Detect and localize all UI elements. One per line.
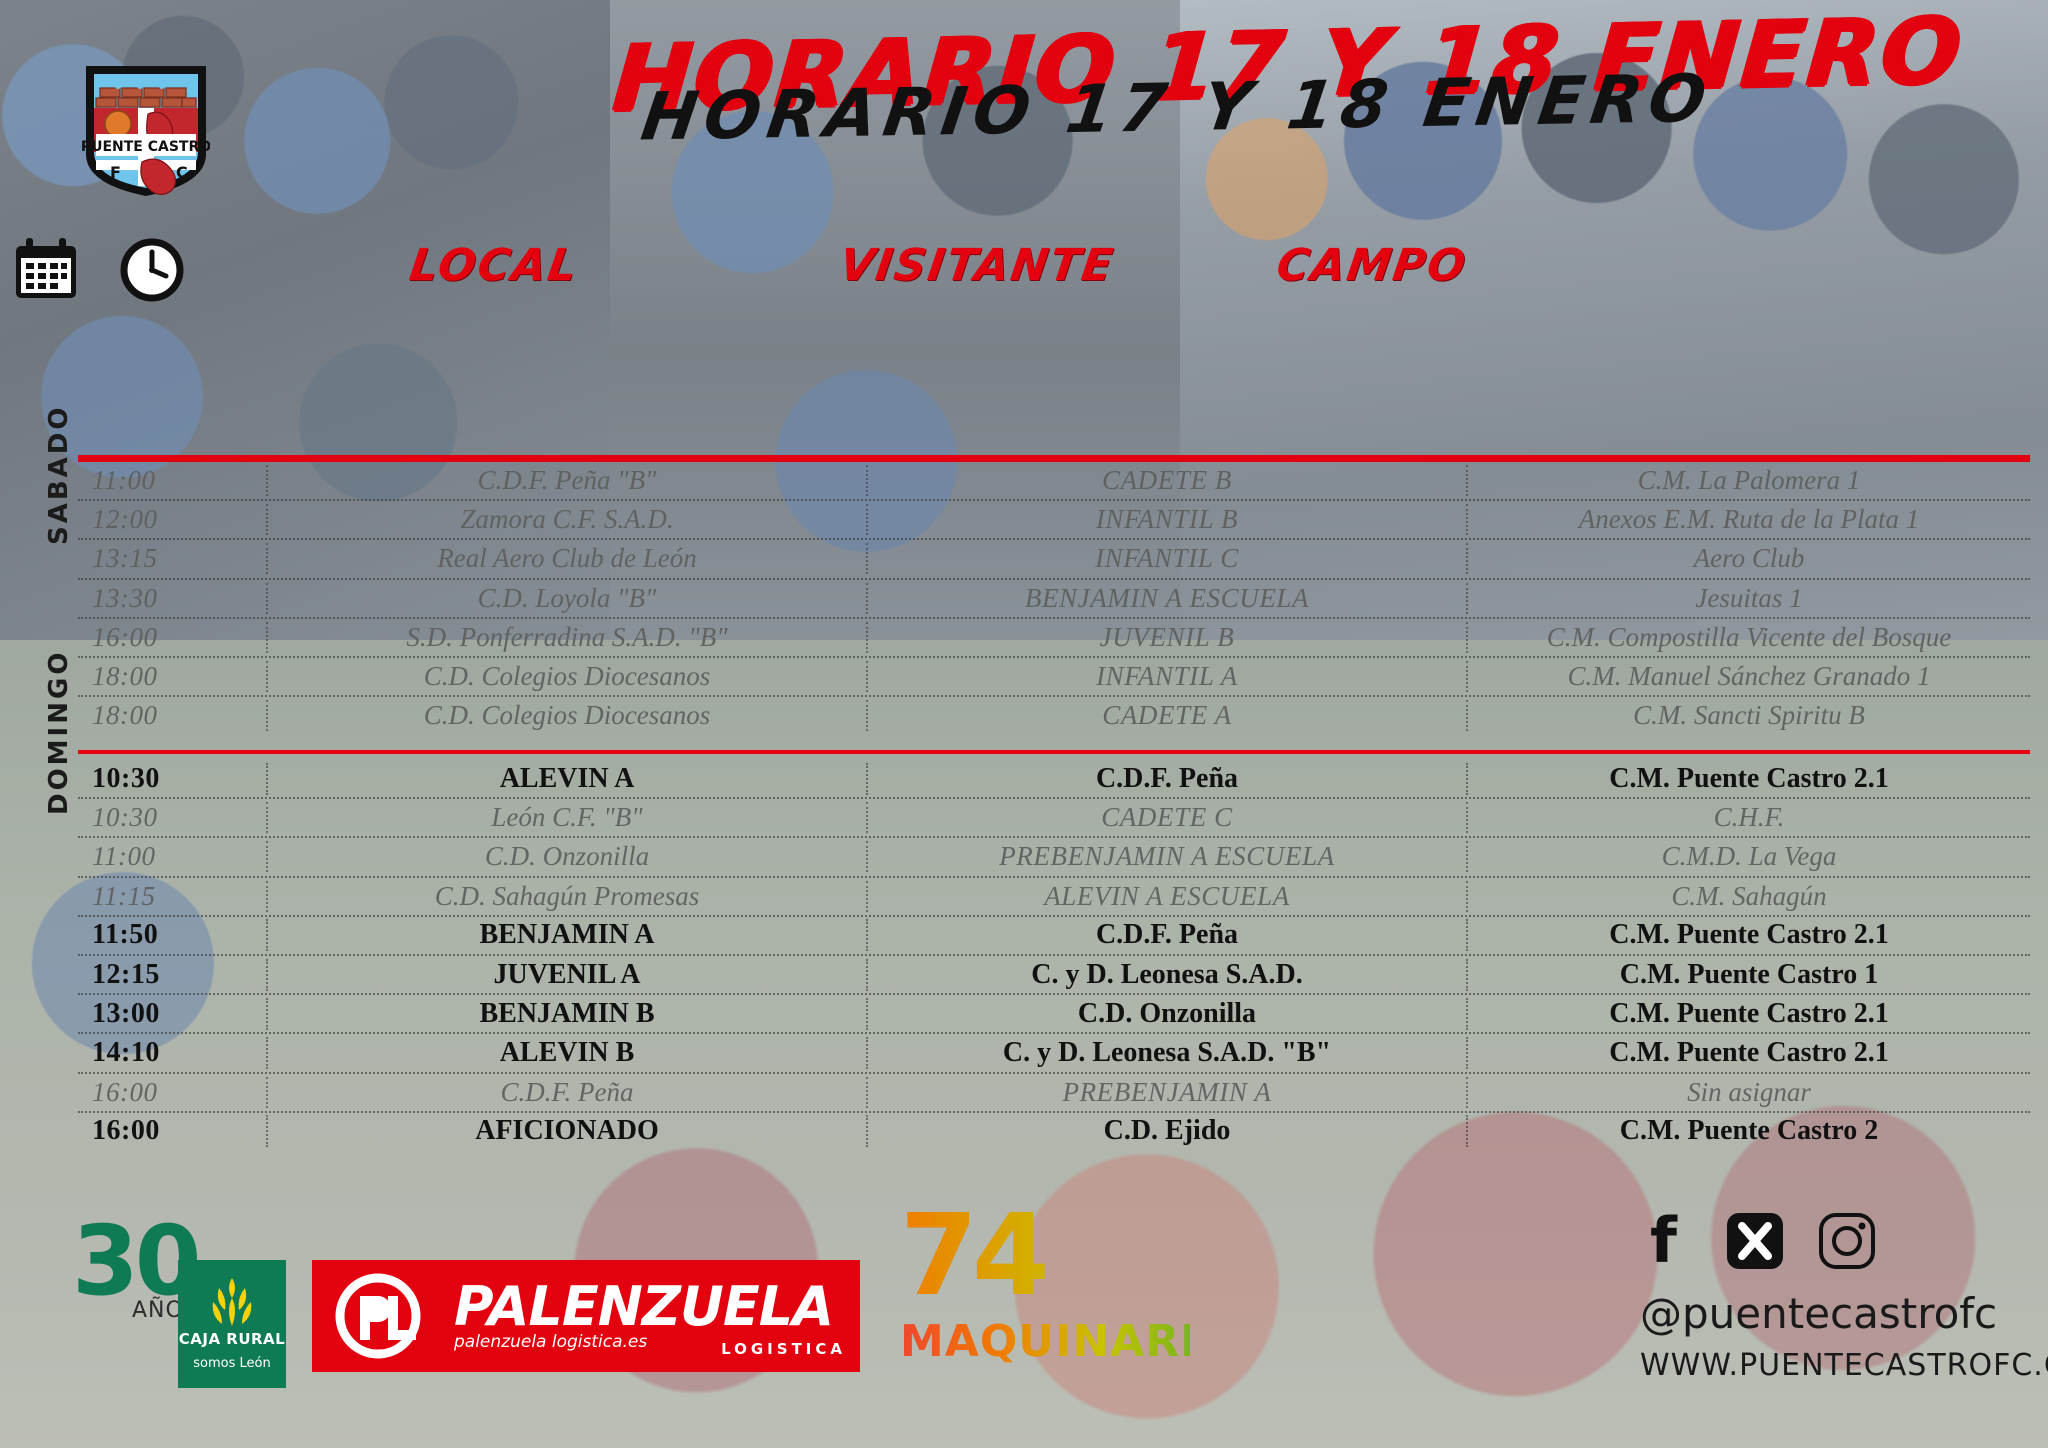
table-row: 13:00BENJAMIN BC.D. OnzonillaC.M. Puente… xyxy=(78,995,2030,1034)
match-time: 16:00 xyxy=(78,622,268,653)
match-local-team: C.D. Sahagún Promesas xyxy=(268,881,868,912)
table-row: 11:15C.D. Sahagún PromesasALEVIN A ESCUE… xyxy=(78,878,2030,917)
crest-club-name: PUENTE CASTRO xyxy=(82,139,210,155)
match-field: C.H.F. xyxy=(1468,802,2030,833)
table-top-rule xyxy=(78,455,2030,462)
match-field: C.M. Compostilla Vicente del Bosque xyxy=(1468,622,2030,653)
match-field: C.M. Puente Castro 1 xyxy=(1468,959,2030,991)
match-local-team: C.D. Colegios Diocesanos xyxy=(268,700,868,731)
match-time: 18:00 xyxy=(78,700,268,731)
match-local-team: BENJAMIN A xyxy=(268,919,868,951)
match-local-team: León C.F. "B" xyxy=(268,802,868,833)
clock-icon xyxy=(118,236,186,302)
palenzuela-name: PALENZUELA xyxy=(454,1280,833,1334)
palenzuela-tagline: LOGISTICA xyxy=(721,1340,846,1358)
match-visiting-team: PREBENJAMIN A ESCUELA xyxy=(868,841,1468,872)
match-field: C.M. Puente Castro 2.1 xyxy=(1468,763,2030,795)
x-twitter-icon[interactable] xyxy=(1726,1212,1784,1275)
match-field: Jesuitas 1 xyxy=(1468,583,2030,614)
column-header-campo: CAMPO xyxy=(1273,240,1470,291)
match-time: 10:30 xyxy=(78,763,268,795)
match-visiting-team: JUVENIL B xyxy=(868,622,1468,653)
match-visiting-team: BENJAMIN A ESCUELA xyxy=(868,583,1468,614)
match-time: 12:00 xyxy=(78,504,268,535)
social-block: f @puentecastrofc WWW.PUENTECASTROFC.COM xyxy=(1640,1212,2040,1383)
match-field: C.M. Puente Castro 2.1 xyxy=(1468,919,2030,951)
table-row: 18:00C.D. Colegios DiocesanosCADETE AC.M… xyxy=(78,697,2030,734)
facebook-icon[interactable]: f xyxy=(1640,1212,1692,1275)
match-field: C.M. Manuel Sánchez Granado 1 xyxy=(1468,661,2030,692)
match-field: C.M. La Palomera 1 xyxy=(1468,465,2030,496)
match-time: 10:30 xyxy=(78,802,268,833)
match-visiting-team: C.D.F. Peña xyxy=(868,763,1468,795)
match-local-team: C.D.F. Peña "B" xyxy=(268,465,868,496)
match-time: 14:10 xyxy=(78,1037,268,1069)
table-row: 13:15Real Aero Club de LeónINFANTIL CAer… xyxy=(78,540,2030,579)
table-row: 16:00S.D. Ponferradina S.A.D. "B"JUVENIL… xyxy=(78,619,2030,658)
crest-c-letter: C xyxy=(176,163,188,182)
day-label-sunday: DOMINGO xyxy=(44,650,74,815)
match-local-team: ALEVIN B xyxy=(268,1037,868,1069)
match-visiting-team: C. y D. Leonesa S.A.D. xyxy=(868,959,1468,991)
sunday-schedule-table: 10:30ALEVIN AC.D.F. PeñaC.M. Puente Cast… xyxy=(78,760,2030,1150)
match-local-team: C.D. Colegios Diocesanos xyxy=(268,661,868,692)
match-time: 16:00 xyxy=(78,1115,268,1147)
match-local-team: JUVENIL A xyxy=(268,959,868,991)
match-time: 18:00 xyxy=(78,661,268,692)
table-row: 12:15JUVENIL AC. y D. Leonesa S.A.D.C.M.… xyxy=(78,956,2030,995)
match-time: 11:50 xyxy=(78,919,268,951)
match-local-team: C.D. Loyola "B" xyxy=(268,583,868,614)
table-row: 14:10ALEVIN BC. y D. Leonesa S.A.D. "B"C… xyxy=(78,1034,2030,1073)
saturday-schedule-table: 11:00C.D.F. Peña "B"CADETE BC.M. La Palo… xyxy=(78,462,2030,734)
match-time: 16:00 xyxy=(78,1077,268,1108)
match-visiting-team: PREBENJAMIN A xyxy=(868,1077,1468,1108)
match-visiting-team: CADETE A xyxy=(868,700,1468,731)
match-field: C.M. Puente Castro 2.1 xyxy=(1468,1037,2030,1069)
table-row: 10:30León C.F. "B"CADETE CC.H.F. xyxy=(78,799,2030,838)
match-visiting-team: C.D.F. Peña xyxy=(868,919,1468,951)
match-time: 11:00 xyxy=(78,841,268,872)
table-row: 11:00C.D. OnzonillaPREBENJAMIN A ESCUELA… xyxy=(78,838,2030,877)
social-handle[interactable]: @puentecastrofc xyxy=(1640,1289,2040,1338)
website-url[interactable]: WWW.PUENTECASTROFC.COM xyxy=(1640,1348,2040,1383)
maquinaria-word: MAQUINARIA xyxy=(900,1316,1190,1367)
match-visiting-team: CADETE C xyxy=(868,802,1468,833)
svg-text:f: f xyxy=(1650,1212,1678,1270)
table-row: 13:30C.D. Loyola "B"BENJAMIN A ESCUELAJe… xyxy=(78,580,2030,619)
table-row: 11:00C.D.F. Peña "B"CADETE BC.M. La Palo… xyxy=(78,462,2030,501)
column-header-local: LOCAL xyxy=(406,240,581,291)
match-visiting-team: ALEVIN A ESCUELA xyxy=(868,881,1468,912)
table-day-divider-rule xyxy=(78,750,2030,754)
poster-root: PUENTE CASTRO F C xyxy=(0,0,2048,1448)
match-visiting-team: INFANTIL B xyxy=(868,504,1468,535)
crest-f-letter: F xyxy=(110,163,121,182)
caja-rural-name: CAJA RURAL xyxy=(178,1330,286,1348)
calendar-icon xyxy=(14,238,78,300)
wheat-icon xyxy=(205,1276,259,1332)
match-local-team: BENJAMIN B xyxy=(268,998,868,1030)
match-time: 13:15 xyxy=(78,543,268,574)
match-visiting-team: INFANTIL C xyxy=(868,543,1468,574)
match-visiting-team: C. y D. Leonesa S.A.D. "B" xyxy=(868,1037,1468,1069)
match-field: C.M. Sancti Spiritu B xyxy=(1468,700,2030,731)
match-time: 11:00 xyxy=(78,465,268,496)
match-visiting-team: C.D. Onzonilla xyxy=(868,998,1468,1030)
match-local-team: Zamora C.F. S.A.D. xyxy=(268,504,868,535)
match-time: 13:00 xyxy=(78,998,268,1030)
maquinaria-number: 74 xyxy=(900,1200,1190,1312)
day-label-saturday: SABADO xyxy=(44,405,74,545)
match-visiting-team: C.D. Ejido xyxy=(868,1115,1468,1147)
table-row: 16:00AFICIONADOC.D. EjidoC.M. Puente Cas… xyxy=(78,1113,2030,1150)
maquinaria-74-logo: 74 MAQUINARIA xyxy=(900,1200,1190,1380)
poster-title: HORARIO 17 Y 18 ENERO HORARIO 17 Y 18 EN… xyxy=(600,8,2040,136)
match-time: 11:15 xyxy=(78,881,268,912)
table-row: 16:00C.D.F. PeñaPREBENJAMIN ASin asignar xyxy=(78,1074,2030,1113)
palenzuela-pl-icon xyxy=(330,1272,448,1360)
table-row: 10:30ALEVIN AC.D.F. PeñaC.M. Puente Cast… xyxy=(78,760,2030,799)
match-field: C.M. Puente Castro 2 xyxy=(1468,1115,2030,1147)
match-local-team: C.D.F. Peña xyxy=(268,1077,868,1108)
match-visiting-team: INFANTIL A xyxy=(868,661,1468,692)
match-local-team: AFICIONADO xyxy=(268,1115,868,1147)
column-header-visitante: VISITANTE xyxy=(836,240,1117,291)
table-row: 12:00Zamora C.F. S.A.D.INFANTIL BAnexos … xyxy=(78,501,2030,540)
caja-rural-logo: CAJA RURAL somos León xyxy=(178,1260,286,1388)
match-local-team: S.D. Ponferradina S.A.D. "B" xyxy=(268,622,868,653)
palenzuela-sponsor-banner: PALENZUELA palenzuela logistica.es LOGIS… xyxy=(312,1260,860,1372)
club-crest-logo: PUENTE CASTRO F C xyxy=(82,62,210,200)
match-field: Sin asignar xyxy=(1468,1077,2030,1108)
caja-rural-tagline: somos León xyxy=(178,1356,286,1371)
match-local-team: C.D. Onzonilla xyxy=(268,841,868,872)
match-local-team: Real Aero Club de León xyxy=(268,543,868,574)
match-field: C.M.D. La Vega xyxy=(1468,841,2030,872)
instagram-icon[interactable] xyxy=(1818,1212,1876,1275)
match-local-team: ALEVIN A xyxy=(268,763,868,795)
table-row: 11:50BENJAMIN AC.D.F. PeñaC.M. Puente Ca… xyxy=(78,917,2030,956)
match-time: 13:30 xyxy=(78,583,268,614)
match-field: Aero Club xyxy=(1468,543,2030,574)
match-field: Anexos E.M. Ruta de la Plata 1 xyxy=(1468,504,2030,535)
match-time: 12:15 xyxy=(78,959,268,991)
table-row: 18:00C.D. Colegios DiocesanosINFANTIL AC… xyxy=(78,658,2030,697)
match-field: C.M. Puente Castro 2.1 xyxy=(1468,998,2030,1030)
match-field: C.M. Sahagún xyxy=(1468,881,2030,912)
match-visiting-team: CADETE B xyxy=(868,465,1468,496)
